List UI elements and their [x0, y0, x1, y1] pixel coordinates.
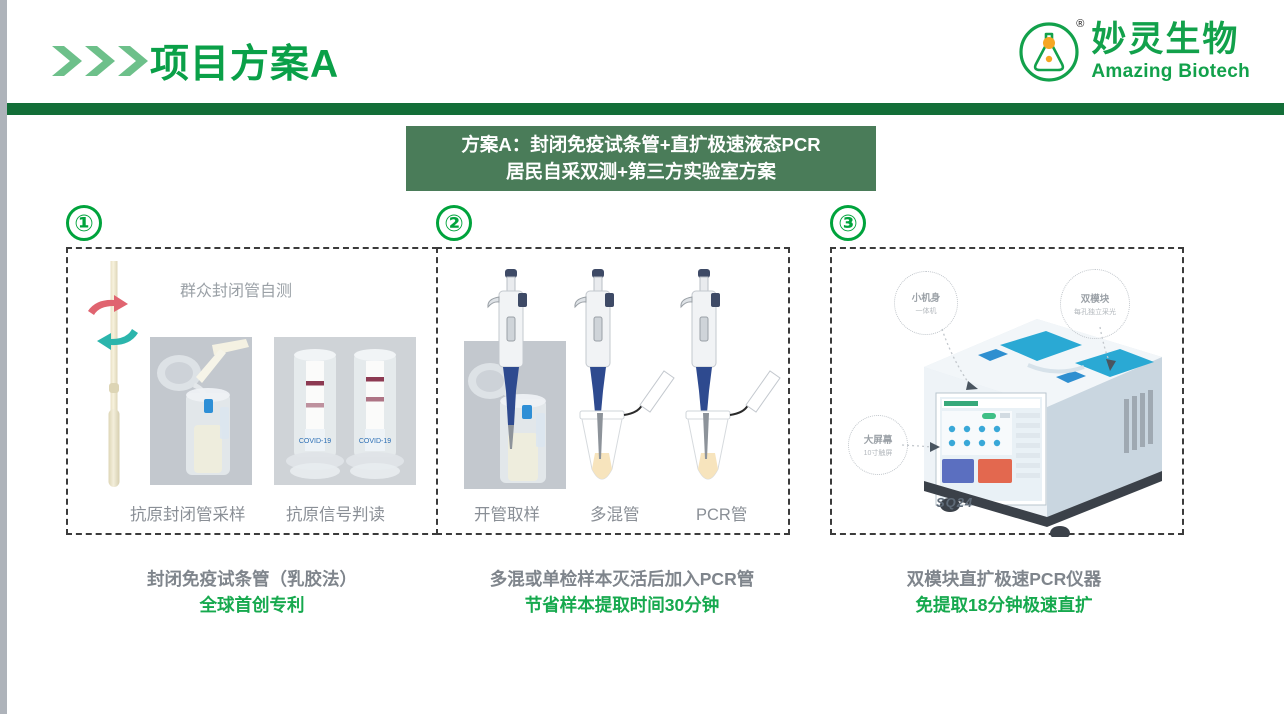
callout-dual-module-title: 双模块 — [1081, 291, 1110, 305]
scheme-banner: 方案A：封闭免疫试条管+直扩极速液态PCR 居民自采双测+第三方实验室方案 — [406, 126, 876, 191]
step-3-number: ③ — [830, 205, 866, 241]
flask-circle-logo-icon: ® — [1016, 18, 1082, 84]
pipette-icon-1 — [485, 263, 537, 463]
caption-3-line-2: 免提取18分钟极速直扩 — [818, 592, 1190, 618]
svg-text:COVID-19: COVID-19 — [299, 438, 331, 445]
svg-text:COVID-19: COVID-19 — [359, 438, 391, 445]
step-2-item-1-label: 开管取样 — [474, 501, 540, 525]
rotation-arrows-icon — [82, 291, 144, 357]
pcr-instrument-illustration: 小机身 一体机 双模块 每孔独立采光 大屏幕 10寸触屏 SQ24 — [832, 249, 1186, 537]
logo-name-en: Amazing Biotech — [1091, 62, 1250, 81]
callout-dual-module-subtitle: 每孔独立采光 — [1074, 307, 1116, 317]
caption-3-line-1: 双模块直扩极速PCR仪器 — [818, 566, 1190, 592]
page-title: 项目方案A — [150, 33, 339, 89]
step-1-photo-1 — [150, 337, 252, 485]
caption-2: 多混或单检样本灭活后加入PCR管 节省样本提取时间30分钟 — [436, 566, 808, 619]
registered-mark: ® — [1076, 18, 1084, 30]
step-2: ② — [436, 205, 808, 545]
steps-row: ① 群众封闭管自测 — [0, 205, 1284, 545]
instrument-model-label: SQ24 — [936, 495, 973, 510]
caption-2-line-1: 多混或单检样本灭活后加入PCR管 — [436, 566, 808, 592]
caption-1-line-2: 全球首创专利 — [66, 592, 438, 618]
callout-small-body-title: 小机身 — [912, 290, 941, 304]
callout-small-body-subtitle: 一体机 — [916, 306, 937, 316]
step-2-item-3-label: PCR管 — [696, 501, 747, 525]
caption-1: 封闭免疫试条管（乳胶法） 全球首创专利 — [66, 566, 438, 619]
step-1-item-1-label: 抗原封闭管采样 — [130, 501, 246, 525]
step-1: ① 群众封闭管自测 — [66, 205, 438, 545]
company-logo: ® 妙灵生物 Amazing Biotech — [1016, 16, 1250, 86]
caption-2-line-2: 节省样本提取时间30分钟 — [436, 592, 808, 618]
step-3: ③ — [830, 205, 1202, 545]
page-header: 项目方案A ® 妙灵生物 Amazing Biotech — [7, 0, 1284, 103]
step-1-photo-2: COVID-19 COVID-19 — [274, 337, 416, 485]
pipette-multi-mix-tube-icon — [568, 263, 678, 493]
step-1-item-2-label: 抗原信号判读 — [286, 501, 385, 525]
banner-line-1: 方案A：封闭免疫试条管+直扩极速液态PCR — [461, 132, 820, 159]
callout-dual-module: 双模块 每孔独立采光 — [1060, 269, 1130, 339]
step-1-number: ① — [66, 205, 102, 241]
step-1-hint-label: 群众封闭管自测 — [180, 277, 292, 301]
step-2-item-2-label: 多混管 — [590, 501, 640, 525]
callout-large-screen-subtitle: 10寸触屏 — [864, 448, 893, 458]
logo-name-cn: 妙灵生物 — [1091, 22, 1250, 57]
caption-3: 双模块直扩极速PCR仪器 免提取18分钟极速直扩 — [818, 566, 1190, 619]
step-2-panel: 开管取样 多混管 — [436, 247, 790, 535]
step-2-number: ② — [436, 205, 472, 241]
step-1-panel: 群众封闭管自测 — [66, 247, 438, 535]
callout-large-screen: 大屏幕 10寸触屏 — [848, 415, 908, 475]
header-divider — [7, 103, 1284, 115]
callout-small-body: 小机身 一体机 — [894, 271, 958, 335]
pipette-pcr-tube-icon — [674, 263, 784, 493]
caption-1-line-1: 封闭免疫试条管（乳胶法） — [66, 566, 438, 592]
step-3-panel: 小机身 一体机 双模块 每孔独立采光 大屏幕 10寸触屏 SQ24 — [830, 247, 1184, 535]
triple-chevron-right-icon — [50, 42, 154, 80]
banner-line-2: 居民自采双测+第三方实验室方案 — [506, 159, 776, 186]
swab-illustration — [90, 261, 138, 491]
callout-large-screen-title: 大屏幕 — [864, 432, 893, 446]
